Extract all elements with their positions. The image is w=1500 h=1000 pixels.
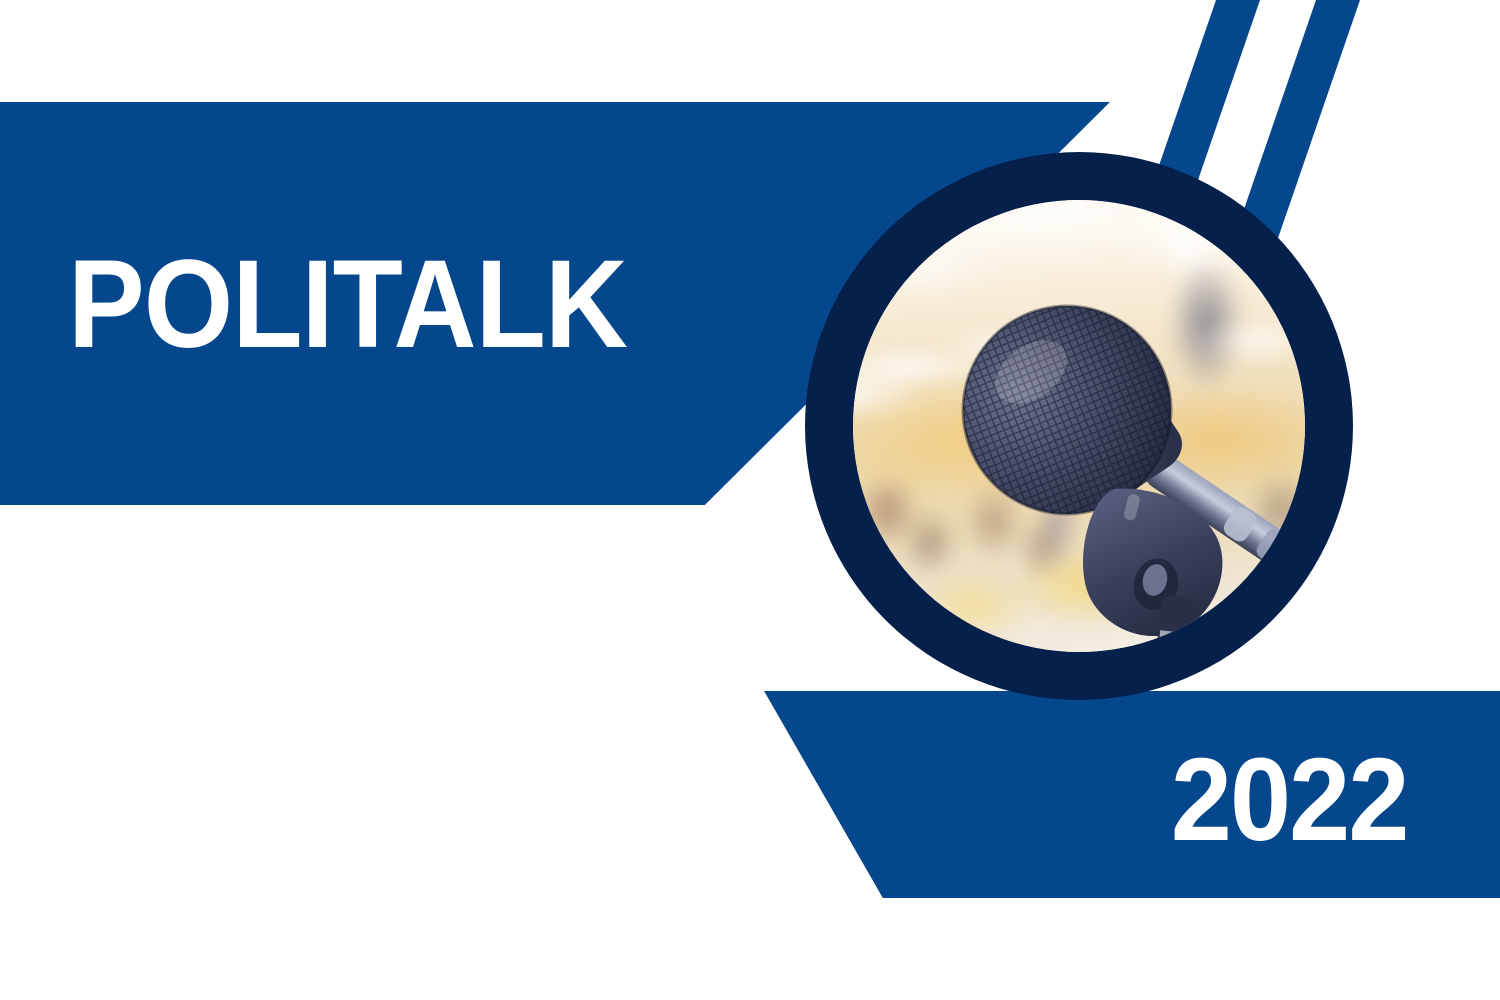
year-label: 2022 [1171,741,1408,859]
medallion-photo [853,200,1305,652]
podcast-cover-canvas: POLITALK 2022 [0,0,1500,1000]
photo-medallion [805,152,1353,700]
show-title: POLITALK [68,242,627,367]
microphone-icon [853,200,1305,652]
